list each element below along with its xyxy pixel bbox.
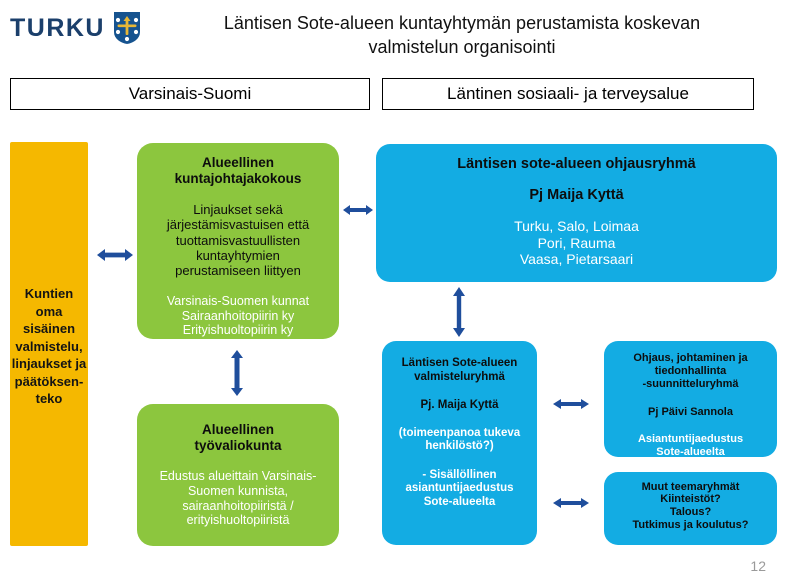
- ohjausryhma-member-3: Vaasa, Pietarsaari: [388, 251, 765, 268]
- box-muut-teemaryhmat: Muut teemaryhmät Kiinteistöt? Talous? Tu…: [604, 472, 777, 545]
- box-alueellinen-tyovaliokunta: Alueellinen työvaliokunta Edustus alueit…: [137, 404, 339, 546]
- arrow-yellow-to-kuntajohtajakokous-icon: [93, 246, 137, 264]
- header-box-left-label: Varsinais-Suomi: [129, 84, 252, 104]
- header-box-lantinen-sote: Läntinen sosiaali- ja terveysalue: [382, 78, 754, 110]
- valmisteluryhma-heading-1: Läntisen Sote-alueen: [391, 357, 528, 371]
- teemaryhmat-item-2: Talous?: [612, 506, 769, 519]
- valmisteluryhma-chair: Pj. Maija Kyttä: [391, 399, 528, 411]
- kuntajohtajakokous-body-2: järjestämisvastuisen että: [147, 217, 329, 232]
- teemaryhmat-item-3: Tutkimus ja koulutus?: [612, 519, 769, 532]
- page-title: Läntisen Sote-alueen kuntayhtymän perust…: [142, 12, 782, 60]
- ohjausryhma-chair: Pj Maija Kyttä: [388, 187, 765, 203]
- kuntajohtajakokous-body-5: perustamiseen liittyen: [147, 263, 329, 278]
- valmisteluryhma-note-1: (toimeenpanoa tukeva: [391, 427, 528, 441]
- valmisteluryhma-bullet-3: Sote-alueelta: [391, 496, 528, 510]
- page-number: 12: [750, 558, 766, 574]
- ohjaus-heading-1: Ohjaus, johtaminen ja: [612, 352, 769, 365]
- kuntajohtajakokous-member-1: Varsinais-Suomen kunnat: [147, 294, 329, 309]
- arrow-valmisteluryhma-to-ohjaus-icon: [551, 396, 591, 412]
- kuntajohtajakokous-heading-1: Alueellinen: [147, 155, 329, 171]
- brand-name: TURKU: [10, 14, 105, 43]
- arrow-kuntajohtajakokous-to-tyovaliokunta-icon: [228, 348, 246, 398]
- tyovaliokunta-body-4: erityishuoltopiiristä: [147, 513, 329, 528]
- kuntajohtajakokous-body-1: Linjaukset sekä: [147, 202, 329, 217]
- valmisteluryhma-heading-2: valmisteluryhmä: [391, 371, 528, 385]
- header-box-right-label: Läntinen sosiaali- ja terveysalue: [447, 84, 689, 104]
- box-ohjaus-johtaminen-tiedonhallinta: Ohjaus, johtaminen ja tiedonhallinta -su…: [604, 341, 777, 457]
- kuntajohtajakokous-member-2: Sairaanhoitopiirin ky: [147, 309, 329, 324]
- valmisteluryhma-note-2: henkilöstö?): [391, 440, 528, 454]
- ohjaus-heading-2: tiedonhallinta: [612, 365, 769, 378]
- box-kuntien-oma-valmistelu: Kuntien oma sisäinen valmistelu, linjauk…: [10, 142, 88, 546]
- kuntajohtajakokous-member-4: Maakuntaliitto / AVI: [147, 338, 329, 339]
- tyovaliokunta-heading-2: työvaliokunta: [147, 438, 329, 454]
- turku-coat-of-arms-icon: [112, 10, 142, 46]
- kuntajohtajakokous-body-3: tuottamisvastuullisten: [147, 233, 329, 248]
- slide-canvas: TURKU Läntisen Sote-alueen kunta: [0, 0, 790, 588]
- kuntajohtajakokous-body-4: kuntayhtymien: [147, 248, 329, 263]
- box-lantisen-sote-alueen-valmisteluryhma: Läntisen Sote-alueen valmisteluryhmä Pj.…: [382, 341, 537, 545]
- tyovaliokunta-heading-1: Alueellinen: [147, 422, 329, 438]
- box-lantisen-sote-alueen-ohjausryhma: Läntisen sote-alueen ohjausryhmä Pj Maij…: [376, 144, 777, 282]
- ohjaus-chair: Pj Päivi Sannola: [612, 406, 769, 418]
- tyovaliokunta-body-3: sairaanhoitopiiristä /: [147, 499, 329, 514]
- ohjausryhma-member-1: Turku, Salo, Loimaa: [388, 218, 765, 235]
- kuntajohtajakokous-heading-2: kuntajohtajakokous: [147, 171, 329, 187]
- ohjausryhma-heading: Läntisen sote-alueen ohjausryhmä: [388, 156, 765, 172]
- ohjaus-note-2: Sote-alueelta: [612, 446, 769, 457]
- header-box-varsinais-suomi: Varsinais-Suomi: [10, 78, 370, 110]
- box-kuntien-oma-text: Kuntien oma sisäinen valmistelu, linjauk…: [10, 285, 88, 408]
- arrow-kuntajohtajakokous-to-ohjausryhma-icon: [341, 202, 375, 218]
- teemaryhmat-heading: Muut teemaryhmät: [612, 481, 769, 493]
- ohjaus-heading-3: -suunnitteluryhmä: [612, 378, 769, 391]
- kuntajohtajakokous-member-3: Erityishuoltopiirin ky: [147, 323, 329, 338]
- tyovaliokunta-body-1: Edustus alueittain Varsinais-: [147, 469, 329, 484]
- ohjausryhma-member-2: Pori, Rauma: [388, 235, 765, 252]
- valmisteluryhma-bullet-1: - Sisällöllinen: [391, 469, 528, 483]
- arrow-ohjausryhma-to-valmisteluryhma-icon: [450, 285, 468, 339]
- arrow-valmisteluryhma-to-teemaryhmat-icon: [551, 495, 591, 511]
- page-title-line1: Läntisen Sote-alueen kuntayhtymän perust…: [142, 12, 782, 36]
- tyovaliokunta-body-2: Suomen kunnista,: [147, 484, 329, 499]
- valmisteluryhma-bullet-2: asiantuntijaedustus: [391, 482, 528, 496]
- page-title-line2: valmistelun organisointi: [142, 36, 782, 60]
- teemaryhmat-item-1: Kiinteistöt?: [612, 493, 769, 506]
- turku-logo: TURKU: [10, 10, 142, 46]
- ohjaus-note-1: Asiantuntijaedustus: [612, 433, 769, 446]
- box-alueellinen-kuntajohtajakokous: Alueellinen kuntajohtajakokous Linjaukse…: [137, 143, 339, 339]
